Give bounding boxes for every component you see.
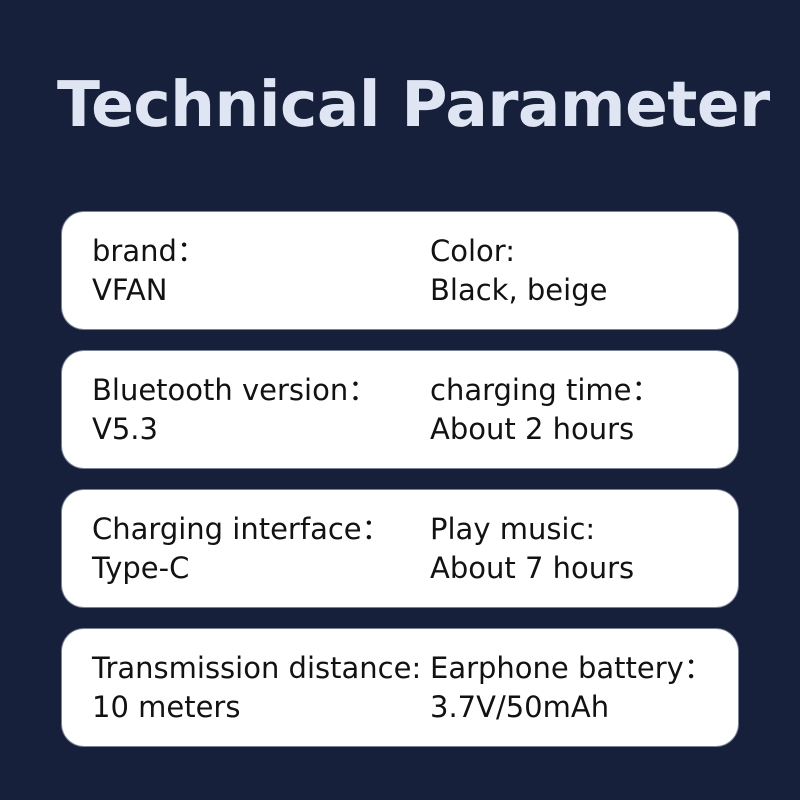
spec-card-row-4: Transmission distance: 10 meters Earphon… (62, 629, 738, 746)
spec-label: Bluetooth version： (92, 371, 430, 410)
spec-cell-right: Earphone battery： 3.7V/50mAh (430, 649, 720, 727)
spec-value: About 2 hours (430, 410, 720, 449)
spec-value: VFAN (92, 271, 430, 310)
spec-card-content: Charging interface： Type-C Play music: A… (92, 490, 720, 607)
spec-label: Charging interface： (92, 510, 430, 549)
spec-cell-left: Transmission distance: 10 meters (92, 649, 430, 727)
spec-label: Play music: (430, 510, 720, 549)
spec-card-list: brand： VFAN Color: Black, beige Bluetoot… (62, 212, 738, 746)
spec-cell-left: brand： VFAN (92, 232, 430, 310)
spec-card-content: Transmission distance: 10 meters Earphon… (92, 629, 720, 746)
spec-label: charging time： (430, 371, 720, 410)
spec-cell-left: Bluetooth version： V5.3 (92, 371, 430, 449)
spec-cell-left: Charging interface： Type-C (92, 510, 430, 588)
spec-card-row-3: Charging interface： Type-C Play music: A… (62, 490, 738, 607)
spec-label: Transmission distance: (92, 649, 430, 688)
spec-label: brand： (92, 232, 430, 271)
spec-value: 3.7V/50mAh (430, 688, 720, 727)
spec-label: Earphone battery： (430, 649, 720, 688)
spec-card-content: Bluetooth version： V5.3 charging time： A… (92, 351, 720, 468)
spec-card-row-1: brand： VFAN Color: Black, beige (62, 212, 738, 329)
spec-value: About 7 hours (430, 549, 720, 588)
spec-value: V5.3 (92, 410, 430, 449)
spec-card-row-2: Bluetooth version： V5.3 charging time： A… (62, 351, 738, 468)
spec-value: Type-C (92, 549, 430, 588)
spec-cell-right: Color: Black, beige (430, 232, 720, 310)
spec-card-content: brand： VFAN Color: Black, beige (92, 212, 720, 329)
technical-parameter-panel: Technical Parameter brand： VFAN Color: B… (0, 0, 800, 800)
page-title: Technical Parameter (57, 72, 757, 138)
spec-cell-right: Play music: About 7 hours (430, 510, 720, 588)
spec-value: Black, beige (430, 271, 720, 310)
spec-label: Color: (430, 232, 720, 271)
spec-cell-right: charging time： About 2 hours (430, 371, 720, 449)
spec-value: 10 meters (92, 688, 430, 727)
